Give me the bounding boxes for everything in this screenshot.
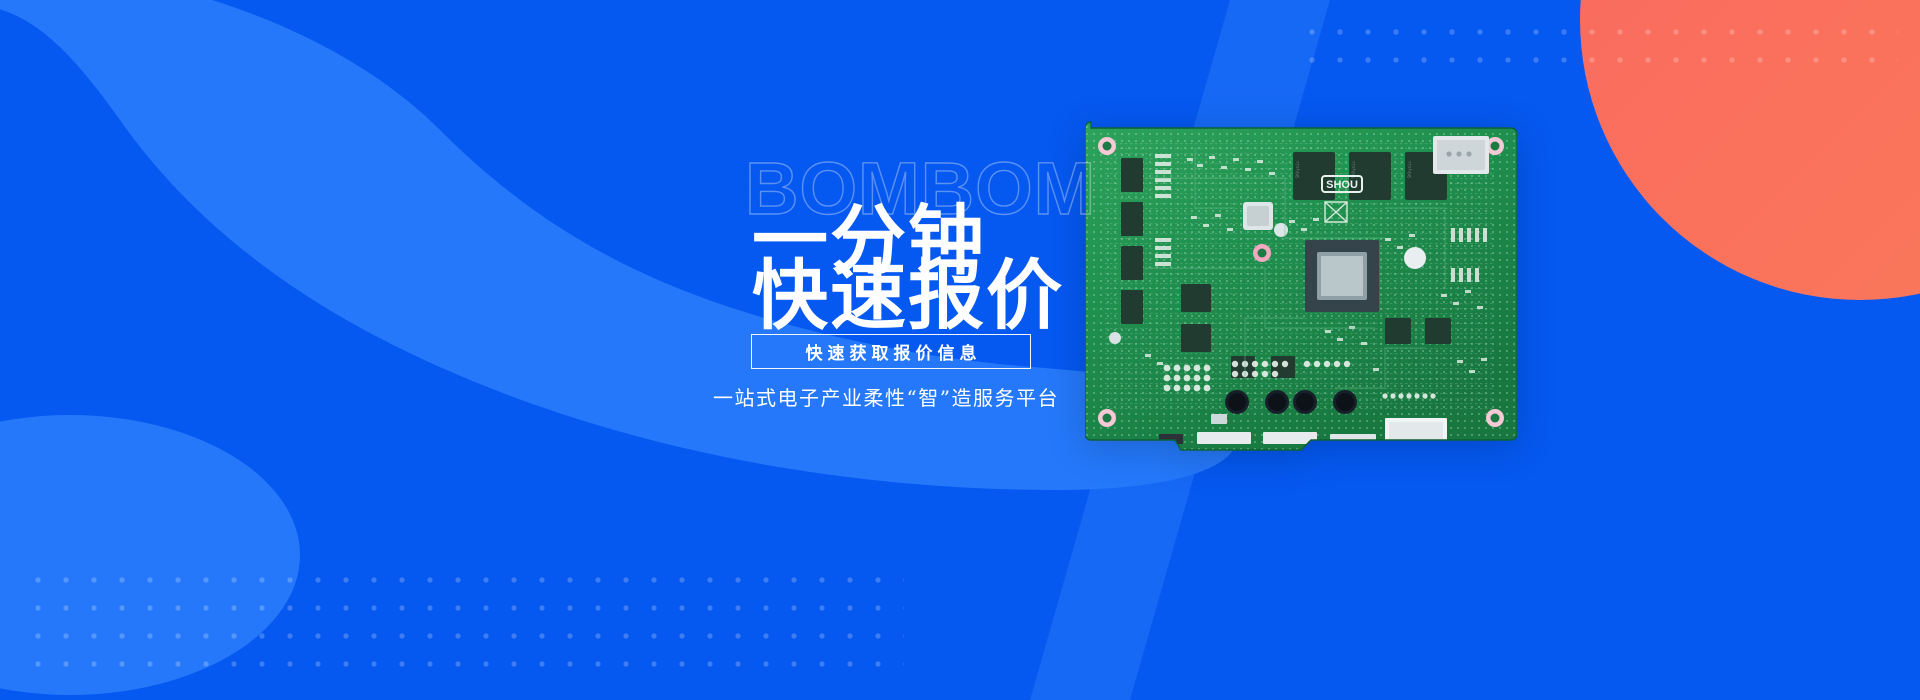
svg-text:SKhynix: SKhynix <box>1295 161 1300 178</box>
dot-grid-bottom-left <box>24 566 904 678</box>
pcb-board-image: SKhynix SKhynix SKhynix <box>1085 118 1517 455</box>
pcb-card-slot <box>1433 136 1489 174</box>
pcb-cpu-chip <box>1305 240 1379 312</box>
svg-text:SKhynix: SKhynix <box>1407 161 1412 178</box>
dot-grid-top-right <box>1298 18 1898 74</box>
cta-button[interactable]: 快速获取报价信息 <box>751 334 1031 369</box>
cta-button-label: 快速获取报价信息 <box>801 339 982 364</box>
promo-banner: SKhynix SKhynix SKhynix <box>0 0 1920 700</box>
pcb-components-group: SKhynix SKhynix SKhynix <box>1085 118 1517 455</box>
pcb-board-svg: SKhynix SKhynix SKhynix <box>1085 118 1517 455</box>
pcb-silkscreen-label: SHOU <box>1326 179 1358 191</box>
pcb-inductor <box>1243 202 1273 230</box>
